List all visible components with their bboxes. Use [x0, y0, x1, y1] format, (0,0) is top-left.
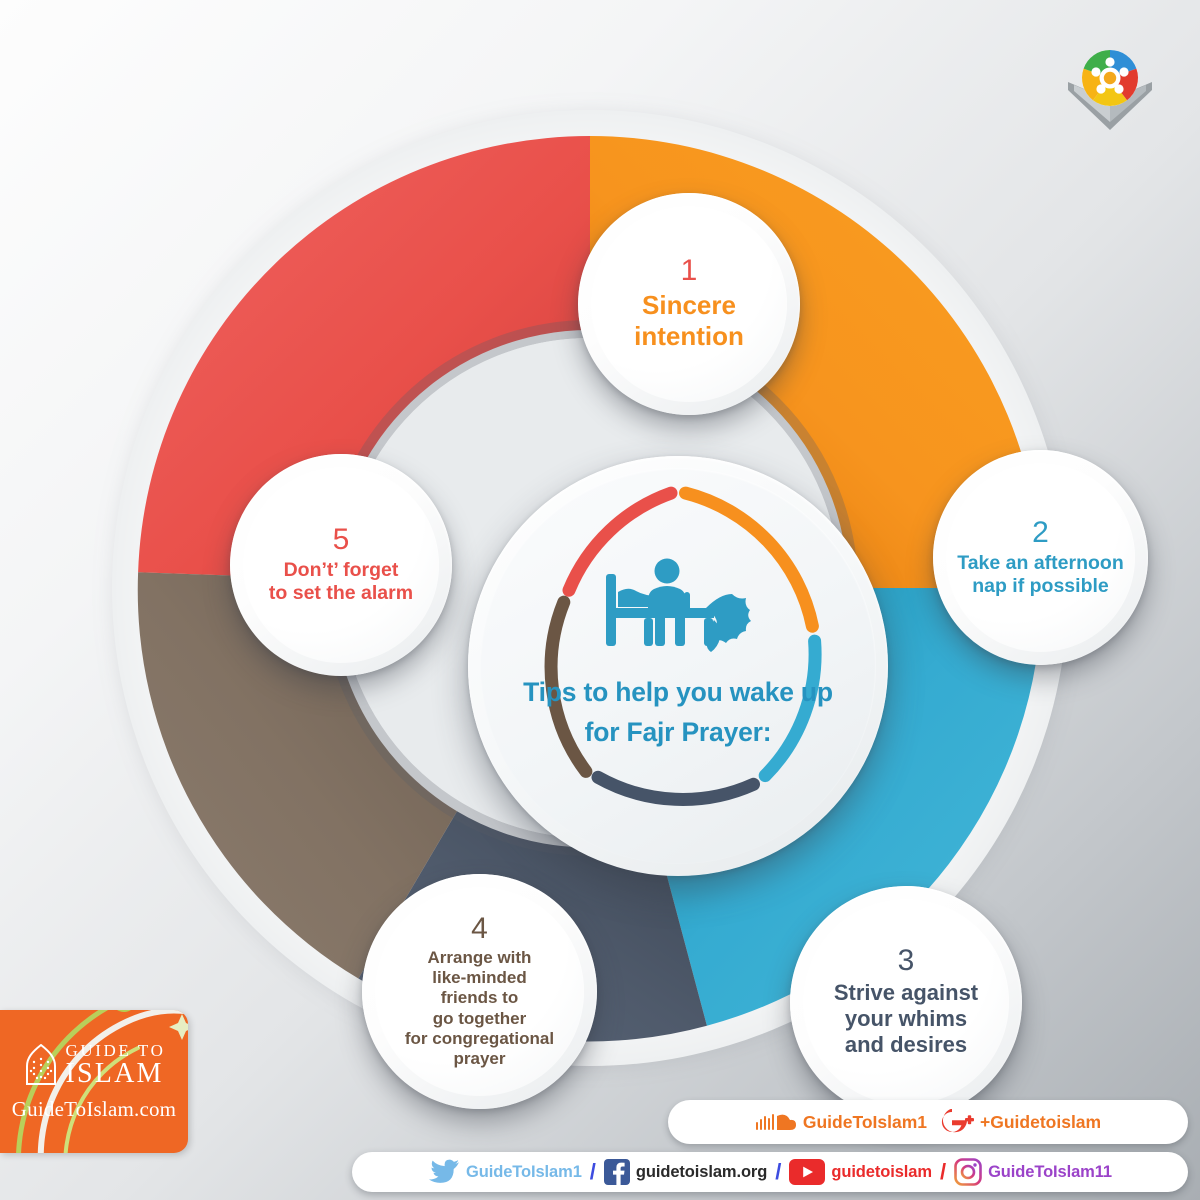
instagram-link[interactable]: GuideToIslam11 [954, 1158, 1112, 1186]
tip-1-number: 1 [681, 256, 698, 286]
instagram-label: GuideToIslam11 [988, 1163, 1112, 1182]
soundcloud-label: GuideToIslam1 [803, 1112, 927, 1133]
badge-logo-row: GUIDE TO ISLAM [23, 1042, 166, 1088]
tip-2-number: 2 [1032, 518, 1049, 548]
instagram-icon [954, 1158, 982, 1186]
center-title-line1: Tips to help you wake up [516, 672, 840, 712]
twitter-link[interactable]: GuideToIslam1 [428, 1159, 582, 1185]
tip-4-text: Arrange with like-minded friends to go t… [405, 948, 554, 1068]
separator-2: / [774, 1159, 782, 1185]
twitter-label: GuideToIslam1 [466, 1163, 582, 1182]
arc-navy [598, 777, 754, 799]
facebook-label: guidetoislam.org [636, 1163, 767, 1182]
separator-1: / [589, 1159, 597, 1185]
youtube-link[interactable]: guidetoislam [789, 1159, 932, 1185]
social-links-bar: GuideToIslam1 / guidetoislam.org / guide… [352, 1152, 1188, 1192]
tip-bubble-2[interactable]: 2 Take an afternoon nap if possible [933, 450, 1148, 665]
youtube-icon [789, 1159, 825, 1185]
twitter-icon [428, 1159, 460, 1185]
tip-1-text: Sincere intention [634, 290, 744, 351]
googleplus-label: +Guidetoislam [980, 1112, 1101, 1133]
tip-bubble-3-inner: 3 Strive against your whims and desires [803, 899, 1009, 1105]
tip-bubble-4[interactable]: 4 Arrange with like-minded friends to go… [362, 874, 597, 1109]
youtube-label: guidetoislam [831, 1163, 932, 1182]
mosque-arch-icon [23, 1044, 59, 1086]
tip-bubble-5-inner: 5 Don’t’ forget to set the alarm [243, 467, 439, 663]
tip-bubble-5[interactable]: 5 Don’t’ forget to set the alarm [230, 454, 452, 676]
tip-5-number: 5 [333, 525, 350, 555]
media-links-bar: GuideToIslam1 +Guidetoislam [668, 1100, 1188, 1144]
tip-bubble-1-inner: 1 Sincere intention [591, 206, 787, 402]
tips-wheel: Tips to help you wake up for Fajr Prayer… [90, 88, 1110, 1108]
soundcloud-icon [755, 1110, 797, 1134]
tip-3-text: Strive against your whims and desires [834, 980, 978, 1058]
person-sitting-on-bed-icon [588, 552, 768, 656]
tip-bubble-4-inner: 4 Arrange with like-minded friends to go… [375, 887, 584, 1096]
badge-line1: GUIDE TO [66, 1042, 166, 1059]
badge-wordmark: GUIDE TO ISLAM [66, 1042, 166, 1088]
badge-line2: ISLAM [66, 1060, 166, 1088]
soundcloud-link[interactable]: GuideToIslam1 [755, 1110, 927, 1134]
googleplus-link[interactable]: +Guidetoislam [940, 1109, 1101, 1135]
center-disc: Tips to help you wake up for Fajr Prayer… [468, 456, 888, 876]
facebook-link[interactable]: guidetoislam.org [604, 1159, 767, 1185]
google-plus-icon [940, 1109, 974, 1135]
facebook-icon [604, 1159, 630, 1185]
badge-url: GuideToIslam.com [12, 1097, 176, 1122]
tip-4-number: 4 [471, 914, 488, 944]
center-content: Tips to help you wake up for Fajr Prayer… [516, 552, 840, 753]
badge-body: GUIDE TO ISLAM GuideToIslam.com [0, 1010, 188, 1153]
tip-5-text: Don’t’ forget to set the alarm [269, 559, 413, 605]
tip-bubble-1[interactable]: 1 Sincere intention [578, 193, 800, 415]
guide-to-islam-badge[interactable]: GUIDE TO ISLAM GuideToIslam.com [0, 1010, 188, 1153]
tip-bubble-2-inner: 2 Take an afternoon nap if possible [946, 463, 1135, 652]
tip-2-text: Take an afternoon nap if possible [957, 552, 1124, 598]
separator-3: / [939, 1159, 947, 1185]
tip-3-number: 3 [898, 946, 915, 976]
center-title-line2: for Fajr Prayer: [516, 712, 840, 752]
tip-bubble-3[interactable]: 3 Strive against your whims and desires [790, 886, 1022, 1118]
